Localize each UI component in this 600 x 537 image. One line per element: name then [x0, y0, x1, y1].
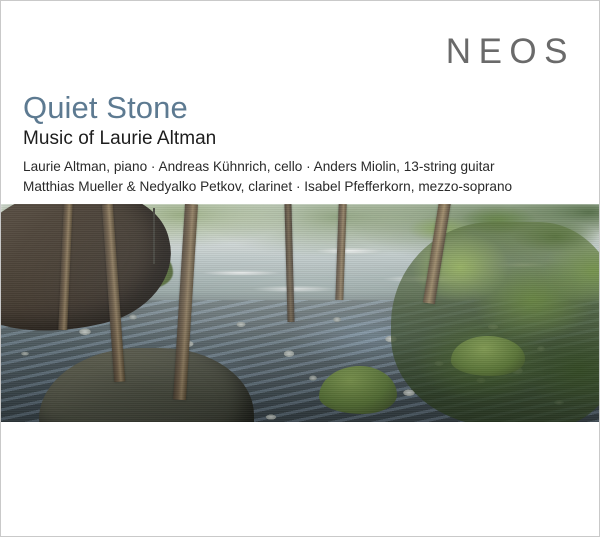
album-subtitle: Music of Laurie Altman [23, 128, 583, 150]
title-block: Quiet Stone Music of Laurie Altman [23, 91, 583, 150]
cd-cover: NEOS Quiet Stone Music of Laurie Altman … [0, 0, 600, 537]
right-shrub-mass [391, 222, 600, 422]
performer-line-2: Matthias Mueller & Nedyalko Petkov, clar… [23, 177, 588, 197]
album-title: Quiet Stone [23, 91, 583, 124]
performer-line-1: Laurie Altman, piano · Andreas Kühnrich,… [23, 157, 588, 177]
neos-logo: NEOS [446, 34, 575, 69]
mossy-stone-right [451, 336, 525, 376]
thin-pole [153, 208, 155, 264]
cover-photograph [1, 204, 600, 422]
performer-credits: Laurie Altman, piano · Andreas Kühnrich,… [23, 157, 588, 197]
photo-layers [1, 204, 600, 422]
